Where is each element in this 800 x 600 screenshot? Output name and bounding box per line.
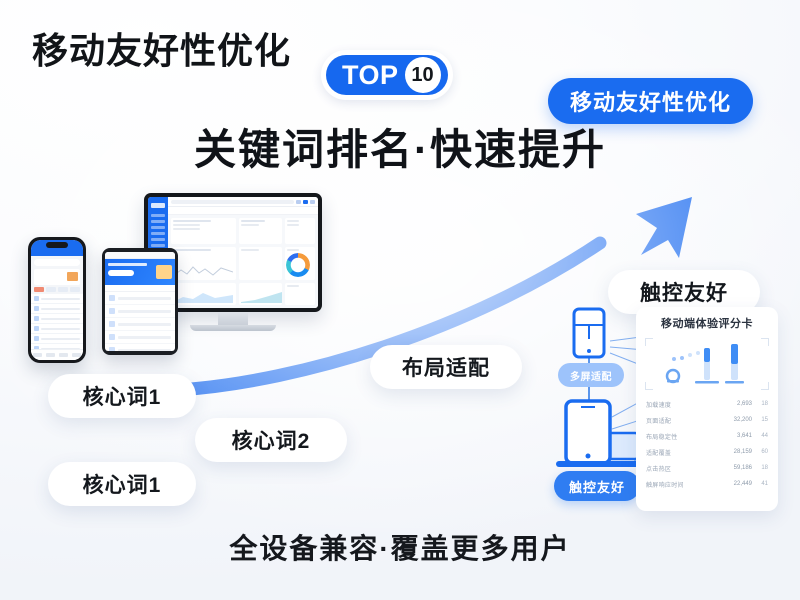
page-footer-title: 全设备兼容·覆盖更多用户 (0, 527, 800, 567)
label-pill-layout: 布局适配 (370, 345, 522, 389)
row-label: 加载速度 (646, 400, 726, 409)
score-card: 移动端体验评分卡 (636, 307, 778, 511)
row-value: 32,200 (730, 417, 752, 423)
row-delta: 18 (756, 465, 768, 471)
table-row: 布局稳定性 3,641 44 (645, 428, 769, 444)
phone-notch (46, 242, 68, 248)
row-label: 适配覆盖 (646, 448, 726, 457)
donut-chart (286, 253, 310, 277)
row-label: 触屏响应时间 (646, 480, 726, 489)
illustration-soft-pill: 多屏适配 (558, 363, 624, 387)
row-value: 2,693 (730, 401, 752, 407)
top-badge-word: TOP (342, 62, 399, 89)
row-label: 点击热区 (646, 464, 726, 473)
mobile-experience-illustration: 多屏适配 触控友好 移动端体验评分卡 (548, 305, 780, 517)
row-value: 3,641 (730, 433, 752, 439)
row-delta: 60 (756, 449, 768, 455)
score-card-title: 移动端体验评分卡 (645, 315, 769, 331)
top-badge-number: 10 (405, 57, 441, 93)
poster-canvas: 移动友好性优化 TOP 10 移动友好性优化 关键词排名·快速提升 (0, 0, 800, 600)
illustration-solid-pill: 触控友好 (554, 471, 640, 501)
table-row: 适配覆盖 28,159 60 (645, 444, 769, 460)
row-value: 59,186 (730, 465, 752, 471)
table-row: 点击热区 59,186 18 (645, 460, 769, 476)
row-label: 布局稳定性 (646, 432, 726, 441)
row-delta: 44 (756, 433, 768, 439)
row-delta: 15 (756, 417, 768, 423)
page-title: 关键词排名·快速提升 (0, 116, 800, 177)
score-card-rows: 加载速度 2,693 18 页面适配 32,200 15 布局稳定性 3,641… (645, 396, 769, 492)
table-row: 触屏响应时间 22,449 41 (645, 476, 769, 492)
header: 移动友好性优化 TOP 10 移动友好性优化 (32, 28, 772, 94)
row-label: 页面适配 (646, 416, 726, 425)
device-mockups (28, 193, 328, 373)
row-delta: 41 (756, 481, 768, 487)
row-value: 22,449 (730, 481, 752, 487)
table-row: 加载速度 2,693 18 (645, 396, 769, 412)
label-pill-keyword-1: 核心词1 (48, 374, 196, 418)
row-delta: 18 (756, 401, 768, 407)
page-kicker: 移动友好性优化 (32, 28, 291, 74)
top-rank-badge: TOP 10 (321, 50, 453, 100)
ipad-mockup (102, 248, 178, 355)
iphone-mockup (28, 237, 86, 363)
label-pill-keyword-3: 核心词1 (48, 462, 196, 506)
label-pill-keyword-2: 核心词2 (195, 418, 347, 462)
table-row: 页面适配 32,200 15 (645, 412, 769, 428)
score-card-chart (645, 338, 769, 390)
row-value: 28,159 (730, 449, 752, 455)
